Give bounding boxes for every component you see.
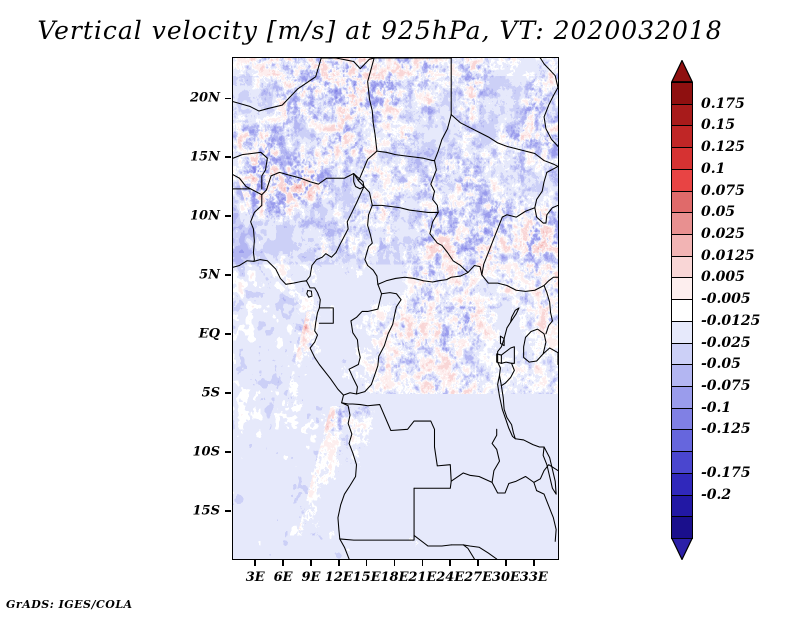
colorbar-tick-label: 0.075 [701, 183, 745, 199]
colorbar-segment [671, 82, 693, 105]
border-path [368, 58, 377, 151]
colorbar-segment [671, 147, 693, 170]
colorbar-segment [671, 125, 693, 148]
colorbar-tick-label: 0.125 [701, 139, 745, 155]
border-path [233, 102, 267, 111]
y-axis-label: 5N [170, 268, 220, 283]
colorbar-segment [671, 277, 693, 300]
border-path [515, 439, 544, 447]
colorbar-tick-label: 0.15 [701, 117, 735, 133]
border-path [364, 186, 378, 284]
colorbar-segment [671, 386, 693, 409]
border-path [431, 115, 451, 213]
y-axis-tick [225, 215, 231, 217]
border-path [492, 429, 499, 482]
x-axis-label: 6E [274, 570, 293, 585]
y-axis-tick [225, 392, 231, 394]
border-path [342, 403, 452, 488]
colorbar-segment [671, 256, 693, 279]
x-axis-label: 21E [408, 570, 436, 585]
x-axis-label: 18E [381, 570, 409, 585]
border-path [451, 115, 535, 154]
border-path [349, 294, 382, 394]
border-path [498, 322, 511, 375]
colorbar-segment [671, 299, 693, 322]
y-axis-label: 15S [170, 503, 220, 518]
colorbar-tick-label: 0.175 [701, 96, 745, 112]
border-path [306, 181, 364, 281]
x-axis-tick [449, 560, 451, 566]
border-path [535, 172, 558, 223]
colorbar-tick-label: -0.05 [701, 356, 741, 372]
colorbar-segment [671, 191, 693, 214]
border-path [482, 275, 558, 292]
colorbar: 0.1750.150.1250.10.0750.050.0250.01250.0… [671, 60, 693, 560]
border-path [319, 308, 333, 323]
colorbar-cap-max [671, 60, 693, 82]
border-path [501, 363, 514, 385]
border-path [543, 447, 556, 494]
colorbar-tick-label: 0.05 [701, 204, 735, 220]
country-borders-overlay [233, 58, 558, 559]
grads-plot-root: Vertical velocity [m/s] at 925hPa, VT: 2… [0, 0, 800, 618]
x-axis-label: 27E [464, 570, 492, 585]
colorbar-segment [671, 451, 693, 474]
footer-credit: GrADS: IGES/COLA [6, 598, 133, 611]
border-path [543, 348, 558, 354]
colorbar-tick-label: -0.2 [701, 487, 731, 503]
x-axis-tick [310, 560, 312, 566]
border-path [430, 212, 468, 272]
x-axis-tick [533, 560, 535, 566]
border-path [451, 545, 496, 559]
border-path [524, 329, 546, 362]
colorbar-segment [671, 429, 693, 452]
colorbar-segment [671, 234, 693, 257]
border-path [344, 284, 402, 395]
colorbar-tick-label: -0.075 [701, 378, 751, 394]
border-path [535, 153, 558, 166]
x-axis-label: 33E [520, 570, 548, 585]
border-path [267, 58, 321, 109]
y-axis-label: 15N [170, 150, 220, 165]
x-axis-label: 12E [325, 570, 353, 585]
x-axis-label: 24E [436, 570, 464, 585]
y-axis-tick [225, 98, 231, 100]
colorbar-tick-label: 0.1 [701, 161, 725, 177]
x-axis-tick [366, 560, 368, 566]
x-axis-tick [505, 560, 507, 566]
border-path [511, 308, 519, 322]
x-axis-label: 15E [353, 570, 381, 585]
colorbar-segment [671, 495, 693, 518]
x-axis-label: 9E [301, 570, 320, 585]
colorbar-tick-label: 0.005 [701, 269, 745, 285]
border-path [262, 172, 359, 194]
colorbar-segment [671, 321, 693, 344]
colorbar-tick-label: -0.175 [701, 465, 751, 481]
x-axis-tick [254, 560, 256, 566]
border-path [537, 491, 557, 542]
y-axis-tick [225, 451, 231, 453]
x-axis-tick [394, 560, 396, 566]
colorbar-segment [671, 408, 693, 431]
border-path [451, 473, 536, 493]
colorbar-tick-label: 0.025 [701, 226, 745, 242]
border-path [233, 152, 267, 189]
colorbar-tick-label: -0.1 [701, 400, 731, 416]
colorbar-tick-label: -0.125 [701, 421, 751, 437]
y-axis-tick [225, 510, 231, 512]
colorbar-tick-label: -0.025 [701, 335, 751, 351]
colorbar-tick-label: -0.005 [701, 291, 751, 307]
x-axis-tick [477, 560, 479, 566]
colorbar-cap-min [671, 538, 693, 560]
border-path [498, 375, 516, 439]
border-path [321, 58, 374, 69]
y-axis-label: 5S [170, 385, 220, 400]
border-path [378, 265, 482, 284]
border-path [233, 175, 262, 262]
y-axis-label: EQ [170, 327, 220, 342]
colorbar-segment [671, 364, 693, 387]
border-path [358, 151, 377, 180]
y-axis-tick [225, 156, 231, 158]
y-axis-label: 10S [170, 444, 220, 459]
border-path [544, 87, 558, 146]
border-path [544, 286, 552, 334]
y-axis-label: 10N [170, 209, 220, 224]
page-title: Vertical velocity [m/s] at 925hPa, VT: 2… [0, 16, 760, 45]
colorbar-segment [671, 473, 693, 496]
border-path [463, 545, 474, 559]
border-path [233, 260, 357, 559]
x-axis-label: 30E [492, 570, 520, 585]
colorbar-tick-label: -0.0125 [701, 313, 760, 329]
x-axis-tick [422, 560, 424, 566]
y-axis-tick [225, 274, 231, 276]
border-path [547, 166, 558, 172]
border-path [414, 488, 451, 546]
border-path [307, 290, 312, 297]
border-path [340, 535, 414, 540]
colorbar-segment [671, 104, 693, 127]
colorbar-segment [671, 169, 693, 192]
border-path [540, 58, 558, 87]
map-plot-area [232, 57, 559, 560]
colorbar-segment [671, 212, 693, 235]
x-axis-tick [282, 560, 284, 566]
y-axis-tick [225, 333, 231, 335]
colorbar-segment [671, 343, 693, 366]
colorbar-segment [671, 516, 693, 539]
border-path [501, 347, 514, 364]
x-axis-label: 3E [246, 570, 265, 585]
border-path [482, 208, 535, 275]
colorbar-tick-label: 0.0125 [701, 248, 755, 264]
border-path [377, 151, 435, 160]
border-path [372, 205, 438, 212]
y-axis-label: 20N [170, 91, 220, 106]
x-axis-tick [338, 560, 340, 566]
